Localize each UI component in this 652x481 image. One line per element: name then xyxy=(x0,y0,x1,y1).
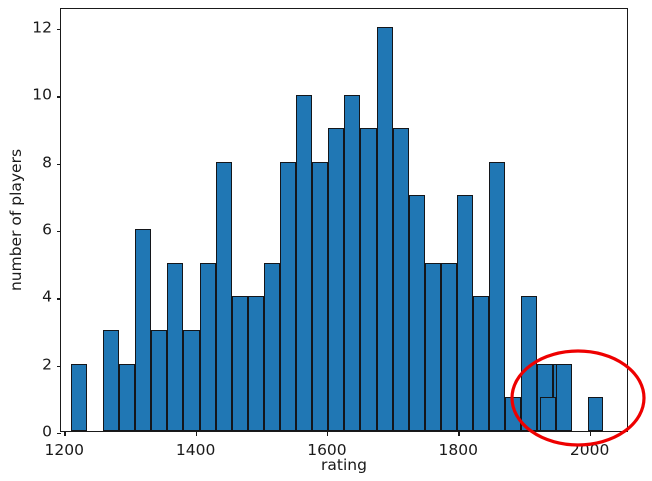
plot-area: 12001400160018002000 xyxy=(60,8,628,432)
x-axis-tick-mark xyxy=(327,431,328,436)
histogram-bar xyxy=(151,330,167,431)
histogram-bar xyxy=(473,296,489,431)
y-axis-tick-label: 12 xyxy=(0,20,52,36)
histogram-bar xyxy=(425,263,441,431)
histogram-bar xyxy=(457,195,473,431)
histogram-bar xyxy=(200,263,216,431)
histogram-bar xyxy=(71,364,87,431)
histogram-bar xyxy=(377,27,393,431)
histogram-bar xyxy=(521,296,537,431)
y-axis-tick-label: 6 xyxy=(0,222,52,238)
y-axis-tick-label: 0 xyxy=(0,424,52,440)
histogram-bar xyxy=(409,195,425,431)
histogram-bar xyxy=(296,95,312,432)
histogram-bar xyxy=(119,364,135,431)
histogram-bar-outlier xyxy=(540,397,556,431)
histogram-bar-outlier xyxy=(556,364,572,431)
histogram-figure: number of players 024681012 120014001600… xyxy=(0,0,652,481)
histogram-bar xyxy=(264,263,280,431)
y-axis-tick-mark xyxy=(57,298,62,299)
histogram-bar xyxy=(441,263,457,431)
y-axis-tick-mark xyxy=(57,366,62,367)
histogram-bar xyxy=(248,296,264,431)
histogram-bar xyxy=(505,397,521,431)
y-axis-tick-label: 2 xyxy=(0,357,52,373)
histogram-bar xyxy=(489,162,505,431)
y-axis-tick-mark xyxy=(57,96,62,97)
histogram-bar xyxy=(216,162,232,431)
histogram-bar-outlier xyxy=(588,397,604,431)
y-axis-tick-label: 8 xyxy=(0,155,52,171)
histogram-bar xyxy=(328,128,344,431)
histogram-bar xyxy=(280,162,296,431)
histogram-bar xyxy=(167,263,183,431)
x-axis-tick-mark xyxy=(196,431,197,436)
x-axis-tick-mark xyxy=(590,431,591,436)
y-axis-tick-label: 10 xyxy=(0,88,52,104)
histogram-bar xyxy=(312,162,328,431)
y-axis-tick-mark xyxy=(57,29,62,30)
y-axis-tick-mark xyxy=(57,231,62,232)
histogram-bar xyxy=(135,229,151,431)
y-axis-tick-label: 4 xyxy=(0,290,52,306)
histogram-bar xyxy=(103,330,119,431)
histogram-bar xyxy=(183,330,199,431)
histogram-bar xyxy=(393,128,409,431)
histogram-bar xyxy=(360,128,376,431)
histogram-bars xyxy=(61,9,627,431)
y-axis-tick-mark xyxy=(57,164,62,165)
y-axis-tick-mark xyxy=(57,433,62,434)
histogram-bar xyxy=(344,95,360,432)
x-axis-tick-mark xyxy=(64,431,65,436)
histogram-bar xyxy=(232,296,248,431)
x-axis-tick-mark xyxy=(458,431,459,436)
x-axis-label: rating xyxy=(60,456,628,474)
